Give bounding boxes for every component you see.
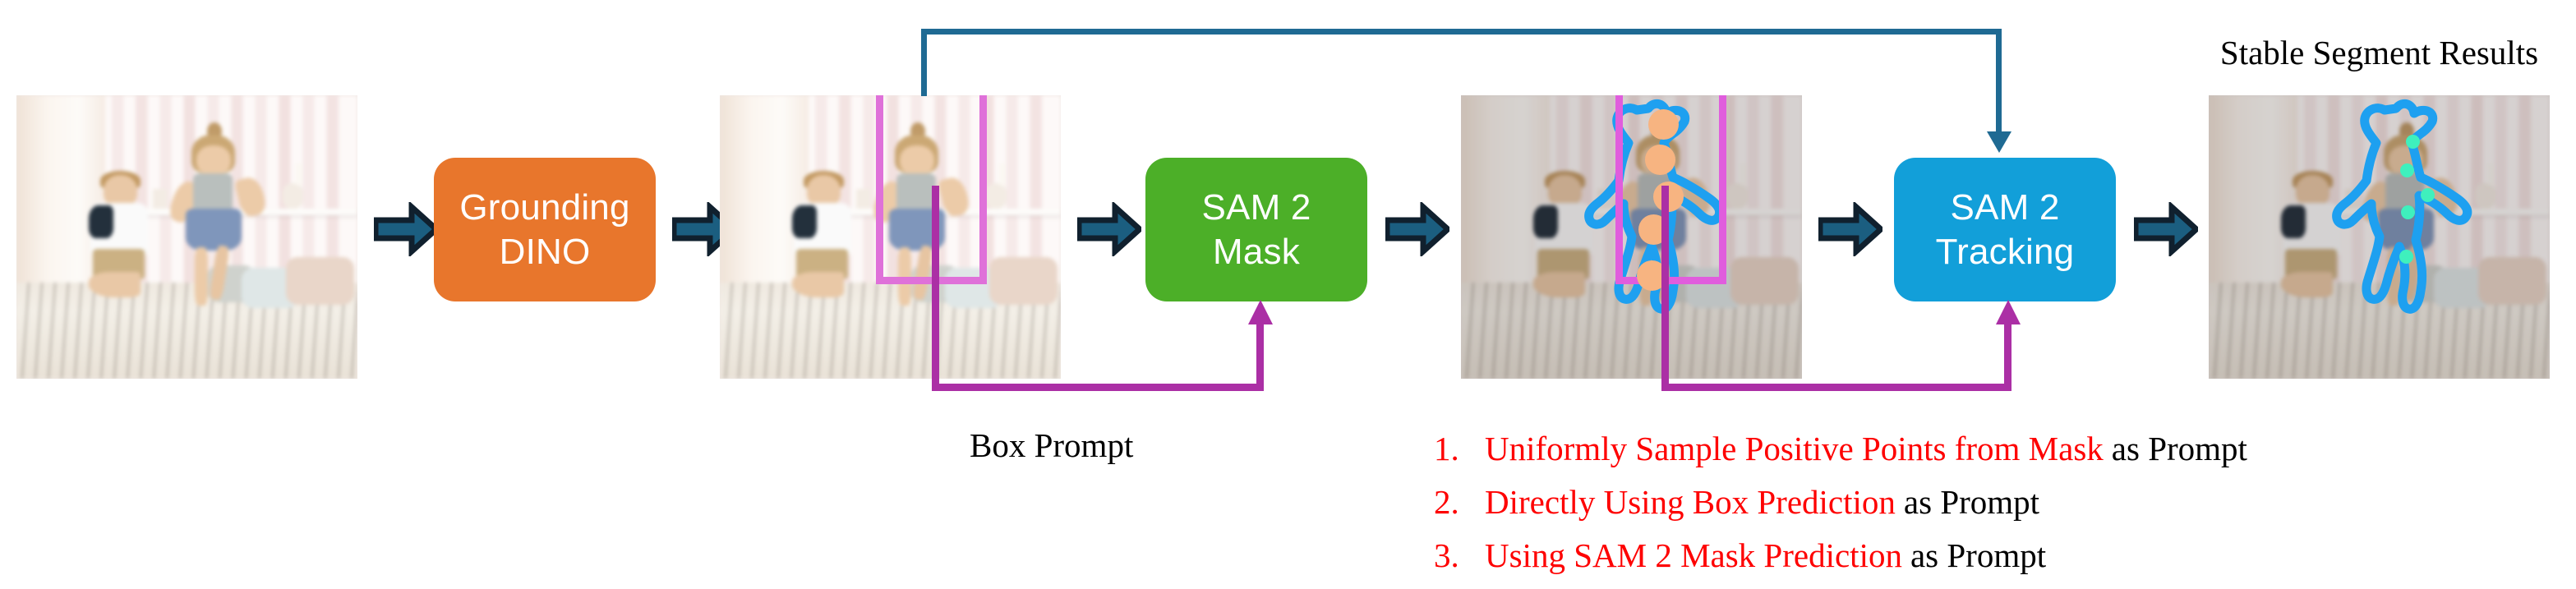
connector-boxprompt-vertical-right — [1256, 322, 1264, 391]
tracking-point — [2400, 163, 2414, 177]
connector-pointprompt-vertical-right — [2004, 322, 2011, 391]
diagram-canvas: Grounding DINO — [0, 0, 2576, 582]
list-item-suffix: as Prompt — [1896, 482, 2039, 522]
stage-label-line1: Grounding — [459, 186, 629, 230]
flow-arrow-6 — [2134, 202, 2198, 256]
candle-decor — [296, 163, 302, 186]
tracking-point — [2406, 135, 2420, 149]
stage-label-line1: SAM 2 — [1950, 186, 2059, 230]
list-item-suffix: as Prompt — [1902, 536, 2046, 575]
list-item-highlight: Using SAM 2 Mask Prediction — [1485, 536, 1902, 575]
panel-result-frame — [2209, 95, 2550, 379]
sample-point — [1645, 145, 1675, 175]
vase-decor — [986, 183, 1007, 209]
flow-arrow-3 — [1077, 202, 1141, 256]
stage-sam2-tracking[interactable]: SAM 2 Tracking — [1894, 158, 2116, 301]
list-item: 3. Using SAM 2 Mask Prediction as Prompt — [1434, 536, 2247, 575]
list-item-number: 2. — [1434, 482, 1485, 522]
segmentation-mask-outline — [2209, 95, 2550, 379]
panel-detection-frame — [720, 95, 1061, 379]
flow-arrow-4 — [1385, 202, 1449, 256]
connector-pointprompt-vertical-left — [1661, 186, 1669, 391]
child-boy — [788, 175, 859, 302]
candle-decor — [999, 163, 1005, 186]
stage-label-line2: Mask — [1213, 230, 1300, 274]
stage-sam2-mask[interactable]: SAM 2 Mask — [1145, 158, 1367, 301]
connector-arrowhead-teal — [1987, 131, 2011, 153]
child-girl — [177, 135, 251, 311]
list-item-number: 1. — [1434, 429, 1485, 468]
list-item: 1. Uniformly Sample Positive Points from… — [1434, 429, 2247, 468]
connector-arrowhead-magenta-tracking — [1996, 300, 2021, 324]
stage-grounding-dino[interactable]: Grounding DINO — [434, 158, 656, 301]
tracking-point — [2421, 188, 2435, 202]
connector-arrowhead-magenta-mask — [1248, 300, 1273, 324]
panel-mask-points-frame — [1461, 95, 1802, 379]
child-boy — [85, 175, 156, 302]
pillow — [989, 257, 1058, 306]
page-title: Stable Segment Results — [2209, 33, 2550, 72]
list-item-highlight: Directly Using Box Prediction — [1485, 482, 1896, 522]
tracking-point — [2399, 250, 2413, 264]
list-item-number: 3. — [1434, 536, 1485, 575]
panel-input-frame — [16, 95, 357, 379]
flow-arrow-1 — [374, 202, 438, 256]
list-item-highlight: Uniformly Sample Positive Points from Ma… — [1485, 429, 2104, 468]
list-item-suffix: as Prompt — [2104, 429, 2247, 468]
tracking-point — [2401, 205, 2415, 219]
box-prompt-label: Box Prompt — [970, 426, 1133, 465]
stage-label-line1: SAM 2 — [1201, 186, 1311, 230]
scene-bedroom — [16, 95, 357, 379]
pillow — [286, 257, 354, 306]
list-item: 2. Directly Using Box Prediction as Prom… — [1434, 482, 2247, 522]
flow-arrow-5 — [1818, 202, 1882, 256]
stage-label-line2: Tracking — [1936, 230, 2075, 274]
vase-decor — [283, 183, 303, 209]
sample-point — [1648, 109, 1679, 140]
connector-box-to-tracking-vertical-right — [1996, 29, 2002, 136]
connector-box-to-tracking-horizontal — [921, 29, 2002, 35]
connector-pointprompt-horizontal — [1661, 384, 2011, 391]
prompt-options-list: 1. Uniformly Sample Positive Points from… — [1434, 429, 2247, 589]
stage-label-line2: DINO — [500, 230, 591, 274]
connector-boxprompt-horizontal — [932, 384, 1264, 391]
connector-boxprompt-vertical-left — [932, 186, 939, 391]
connector-box-to-tracking-vertical-left — [921, 29, 927, 96]
